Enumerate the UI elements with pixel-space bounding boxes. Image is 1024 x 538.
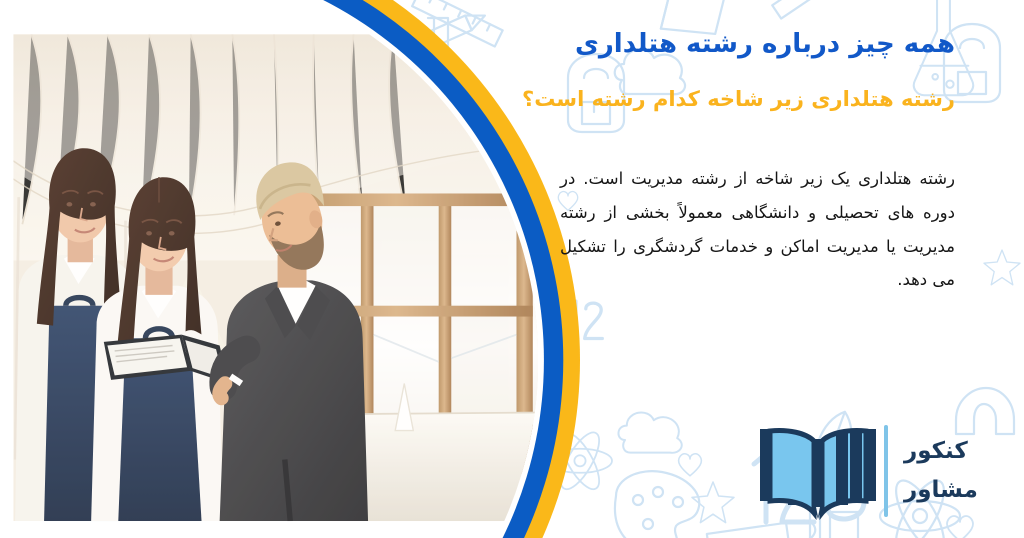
open-book-pencil-icon xyxy=(756,419,880,523)
page-subtitle: رشته هتلداری زیر شاخه کدام رشته است؟ xyxy=(495,86,955,113)
star-doodle xyxy=(984,250,1020,285)
poster-canvas: همه چیز درباره رشته هتلداری رشته هتلداری… xyxy=(0,0,1024,538)
brand-word-top: کنکور xyxy=(904,440,968,463)
brand-logo[interactable]: کنکور مشاور xyxy=(756,412,986,530)
brand-wordmark: کنکور مشاور xyxy=(904,440,978,502)
heart-doodle xyxy=(679,454,702,476)
hero-photo xyxy=(0,0,538,538)
restaurant-staff-photo xyxy=(13,34,538,521)
body-paragraph: رشته هتلداری یک زیر شاخه از رشته مدیریت … xyxy=(560,162,955,297)
pencil-doodle xyxy=(772,0,851,19)
star-doodle xyxy=(692,482,734,523)
page-title: همه چیز درباره رشته هتلداری xyxy=(535,28,955,61)
brand-word-bottom: مشاور xyxy=(904,479,978,502)
logo-divider xyxy=(884,425,888,517)
